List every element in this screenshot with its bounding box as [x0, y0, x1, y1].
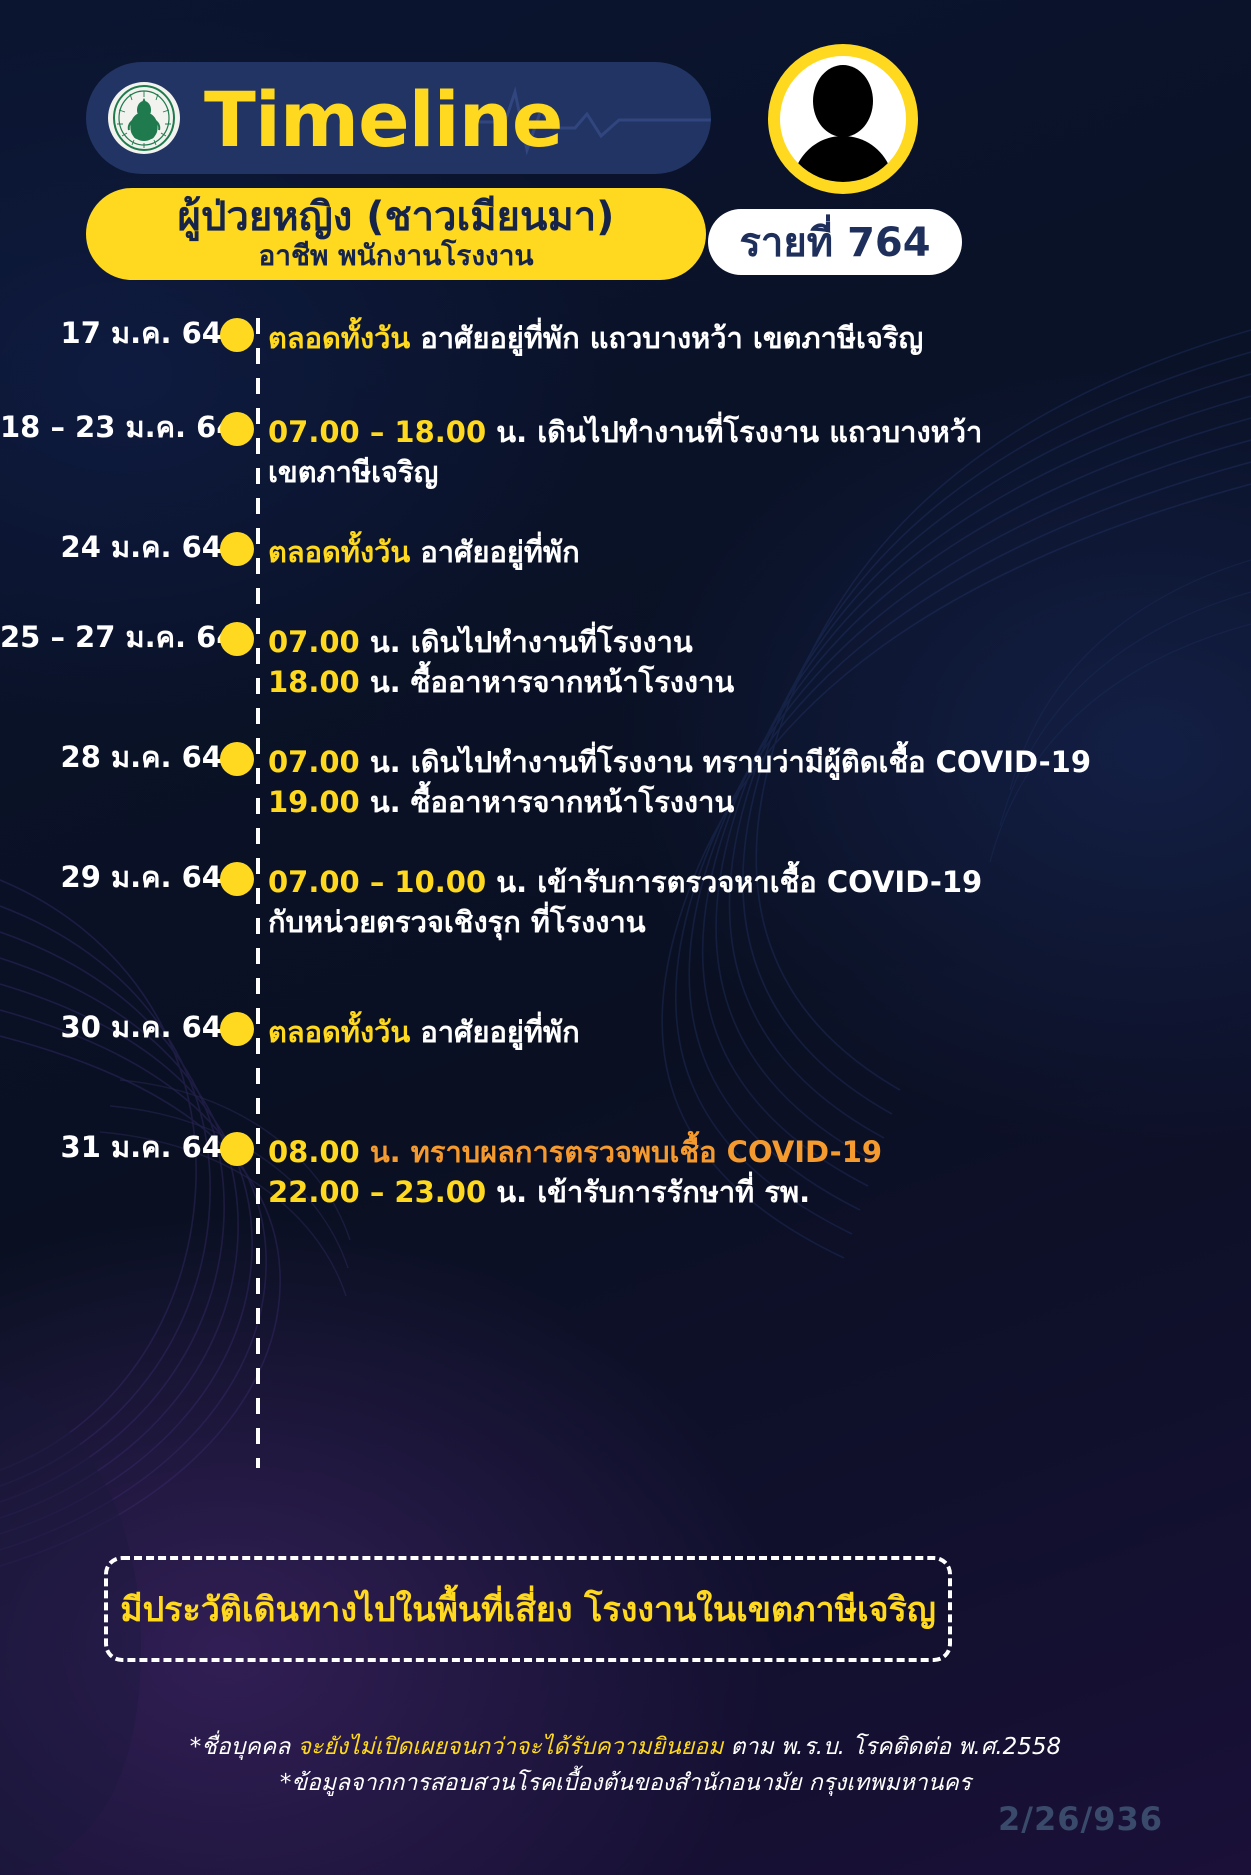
subtitle-pill: ผู้ป่วยหญิง (ชาวเมียนมา) อาชีพ พนักงานโร…	[86, 188, 706, 280]
poster-header: Timeline ผู้ป่วยหญิง (ชาวเมียนมา) อาชีพ …	[0, 0, 1251, 300]
timeline-entry-time: ตลอดทั้งวัน	[268, 535, 410, 569]
timeline-entry-date: 31 ม.ค. 64	[0, 1132, 236, 1164]
timeline-entry-text: น. ซื้ออาหารจากหน้าโรงงาน	[370, 785, 734, 819]
footer-line-1: *ชื่อบุคคล จะยังไม่เปิดเผยจนกว่าจะได้รับ…	[0, 1730, 1251, 1766]
timeline-entry: 30 ม.ค. 64ตลอดทั้งวัน อาศัยอยู่ที่พัก	[0, 1012, 1251, 1052]
bangkok-metropolitan-administration-seal-icon	[108, 82, 180, 154]
timeline-entry-text: น. ซื้ออาหารจากหน้าโรงงาน	[370, 665, 734, 699]
avatar	[768, 44, 918, 194]
timeline-entry-line: ตลอดทั้งวัน อาศัยอยู่ที่พัก	[268, 1012, 1251, 1052]
timeline-entry: 31 ม.ค. 6408.00 น. ทราบผลการตรวจพบเชื้อ …	[0, 1132, 1251, 1212]
timeline-entry-line: 07.00 – 10.00 น. เข้ารับการตรวจหาเชื้อ C…	[268, 862, 1251, 902]
timeline-dot-icon	[220, 532, 254, 566]
risk-area-callout: มีประวัติเดินทางไปในพื้นที่เสี่ยง โรงงาน…	[104, 1556, 952, 1662]
timeline-entry-text: น. เข้ารับการตรวจหาเชื้อ COVID-19	[496, 865, 982, 899]
footer-line-1-suffix: ตาม พ.ร.บ. โรคติดต่อ พ.ศ.2558	[723, 1734, 1061, 1760]
timeline-dot-icon	[220, 318, 254, 352]
footer-line-2: *ข้อมูลจากการสอบสวนโรคเบื้องต้นของสำนักอ…	[0, 1766, 1251, 1802]
case-number-badge: รายที่ 764	[708, 209, 962, 275]
timeline-entry-text: อาศัยอยู่ที่พัก	[420, 1015, 579, 1049]
timeline-entry-line: 08.00 น. ทราบผลการตรวจพบเชื้อ COVID-19	[268, 1132, 1251, 1172]
timeline-entry-text: น. เดินไปทำงานที่โรงงาน	[370, 625, 693, 659]
timeline-entry-time: 18.00	[268, 665, 360, 699]
timeline-entry-time: 07.00 – 10.00	[268, 865, 486, 899]
timeline-entry-date: 18 – 23 ม.ค. 64	[0, 412, 236, 444]
timeline-entry-time: 07.00	[268, 745, 360, 779]
timeline-entry: 18 – 23 ม.ค. 6407.00 – 18.00 น. เดินไปทำ…	[0, 412, 1251, 492]
timeline-entry-body: 08.00 น. ทราบผลการตรวจพบเชื้อ COVID-1922…	[264, 1132, 1251, 1212]
timeline-entry-date: 25 – 27 ม.ค. 64	[0, 622, 236, 654]
timeline-dot-icon	[220, 742, 254, 776]
timeline-entry-line: 22.00 – 23.00 น. เข้ารับการรักษาที่ รพ.	[268, 1172, 1251, 1212]
timeline-entry-line: 07.00 น. เดินไปทำงานที่โรงงาน ทราบว่ามีผ…	[268, 742, 1251, 782]
page-title: Timeline	[204, 66, 562, 174]
timeline-entry-date: 29 ม.ค. 64	[0, 862, 236, 894]
case-number-label: รายที่ 764	[739, 210, 930, 274]
timeline-entry-text: น. เดินไปทำงานที่โรงงาน แถวบางหว้า	[496, 415, 982, 449]
timeline-entry-body: ตลอดทั้งวัน อาศัยอยู่ที่พัก	[264, 1012, 1251, 1052]
timeline-entry-time: ตลอดทั้งวัน	[268, 1015, 410, 1049]
timeline-entry: 28 ม.ค. 6407.00 น. เดินไปทำงานที่โรงงาน …	[0, 742, 1251, 822]
timeline-entry-time: 19.00	[268, 785, 360, 819]
page-number: 2/26/936	[998, 1800, 1163, 1838]
patient-descriptor: ผู้ป่วยหญิง (ชาวเมียนมา)	[178, 196, 615, 238]
timeline-entry-date: 17 ม.ค. 64	[0, 318, 236, 350]
timeline-entry-line: 07.00 – 18.00 น. เดินไปทำงานที่โรงงาน แถ…	[268, 412, 1251, 452]
timeline-entry-body: ตลอดทั้งวัน อาศัยอยู่ที่พัก แถวบางหว้า เ…	[264, 318, 1251, 358]
timeline-entry-line: ตลอดทั้งวัน อาศัยอยู่ที่พัก แถวบางหว้า เ…	[268, 318, 1251, 358]
timeline-entry-date: 30 ม.ค. 64	[0, 1012, 236, 1044]
timeline-entry-body: 07.00 – 10.00 น. เข้ารับการตรวจหาเชื้อ C…	[264, 862, 1251, 942]
timeline-entry-text: อาศัยอยู่ที่พัก	[420, 535, 579, 569]
timeline-entry-line: กับหน่วยตรวจเชิงรุก ที่โรงงาน	[268, 902, 1251, 942]
timeline-entry: 17 ม.ค. 64ตลอดทั้งวัน อาศัยอยู่ที่พัก แถ…	[0, 318, 1251, 358]
timeline-entry-text: เขตภาษีเจริญ	[268, 455, 438, 489]
timeline-entry-line: 18.00 น. ซื้ออาหารจากหน้าโรงงาน	[268, 662, 1251, 702]
footer-line-1-prefix: *ชื่อบุคคล	[190, 1734, 298, 1760]
timeline-entry-line: ตลอดทั้งวัน อาศัยอยู่ที่พัก	[268, 532, 1251, 572]
timeline-entry-line: 19.00 น. ซื้ออาหารจากหน้าโรงงาน	[268, 782, 1251, 822]
timeline-entry-body: ตลอดทั้งวัน อาศัยอยู่ที่พัก	[264, 532, 1251, 572]
timeline-entry-time: 07.00	[268, 625, 360, 659]
footer-disclaimer: *ชื่อบุคคล จะยังไม่เปิดเผยจนกว่าจะได้รับ…	[0, 1730, 1251, 1801]
timeline-poster: Timeline ผู้ป่วยหญิง (ชาวเมียนมา) อาชีพ …	[0, 0, 1251, 1875]
timeline-dot-icon	[220, 622, 254, 656]
timeline-dot-icon	[220, 412, 254, 446]
timeline-entry: 25 – 27 ม.ค. 6407.00 น. เดินไปทำงานที่โร…	[0, 622, 1251, 702]
timeline-entry: 29 ม.ค. 6407.00 – 10.00 น. เข้ารับการตรว…	[0, 862, 1251, 942]
timeline-entry-line: 07.00 น. เดินไปทำงานที่โรงงาน	[268, 622, 1251, 662]
timeline-dot-icon	[220, 862, 254, 896]
timeline-entry-date: 28 ม.ค. 64	[0, 742, 236, 774]
timeline-entry-text: น. เข้ารับการรักษาที่ รพ.	[496, 1175, 810, 1209]
timeline-entry-date: 24 ม.ค. 64	[0, 532, 236, 564]
anonymous-person-silhouette-icon	[780, 56, 906, 182]
timeline-dot-icon	[220, 1132, 254, 1166]
timeline-entry-body: 07.00 น. เดินไปทำงานที่โรงงาน18.00 น. ซื…	[264, 622, 1251, 702]
timeline-dot-icon	[220, 1012, 254, 1046]
footer-line-1-emphasis: จะยังไม่เปิดเผยจนกว่าจะได้รับความยินยอม	[298, 1734, 724, 1760]
timeline-entry: 24 ม.ค. 64ตลอดทั้งวัน อาศัยอยู่ที่พัก	[0, 532, 1251, 572]
risk-area-callout-text: มีประวัติเดินทางไปในพื้นที่เสี่ยง โรงงาน…	[120, 1582, 936, 1636]
timeline-entry-time: 07.00 – 18.00	[268, 415, 486, 449]
patient-occupation: อาชีพ พนักงานโรงงาน	[258, 240, 533, 272]
timeline-entry-text: น. เดินไปทำงานที่โรงงาน ทราบว่ามีผู้ติดเ…	[370, 745, 1091, 779]
timeline-entry-text: น. ทราบผลการตรวจพบเชื้อ COVID-19	[370, 1135, 882, 1169]
timeline-entry-time: 08.00	[268, 1135, 360, 1169]
timeline-entry-body: 07.00 – 18.00 น. เดินไปทำงานที่โรงงาน แถ…	[264, 412, 1251, 492]
timeline-entry-body: 07.00 น. เดินไปทำงานที่โรงงาน ทราบว่ามีผ…	[264, 742, 1251, 822]
timeline-entry-time: 22.00 – 23.00	[268, 1175, 486, 1209]
title-pill: Timeline	[86, 62, 711, 174]
timeline-entry-time: ตลอดทั้งวัน	[268, 321, 410, 355]
timeline-entry-text: อาศัยอยู่ที่พัก แถวบางหว้า เขตภาษีเจริญ	[420, 321, 923, 355]
timeline-entry-line: เขตภาษีเจริญ	[268, 452, 1251, 492]
timeline-entry-text: กับหน่วยตรวจเชิงรุก ที่โรงงาน	[268, 905, 646, 939]
